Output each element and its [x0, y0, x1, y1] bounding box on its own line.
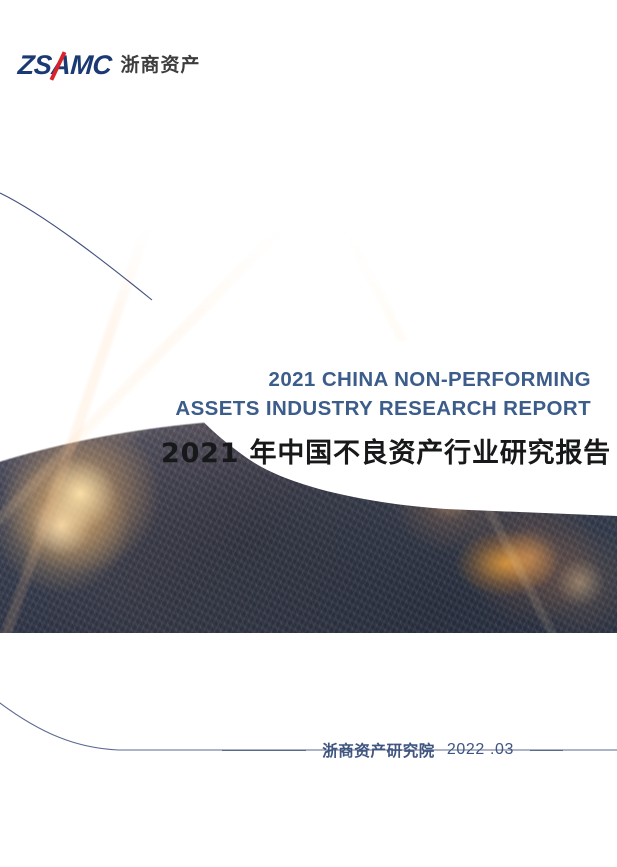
cover-footer: 浙商资产研究院 2022 .03: [0, 736, 617, 764]
logo-wordmark: ZSAMC: [17, 52, 112, 79]
hero-image: [0, 0, 617, 633]
title-chinese: 2021 年中国不良资产行业研究报告: [161, 437, 591, 471]
report-cover-page: ZSAMC 浙商资产 2021 CHINA NON-PERFORMING ASS…: [0, 0, 617, 867]
title-english-line-1: 2021 CHINA NON-PERFORMING: [161, 366, 591, 394]
footer-publisher: 浙商资产研究院: [322, 739, 435, 761]
cover-title-block: 2021 CHINA NON-PERFORMING ASSETS INDUSTR…: [161, 366, 591, 470]
footer-rule-left: [222, 750, 306, 751]
footer-rule-right: [530, 750, 563, 751]
cityscape-photo: [0, 0, 617, 633]
brand-logo: ZSAMC 浙商资产: [18, 52, 201, 79]
title-english-line-2: ASSETS INDUSTRY RESEARCH REPORT: [161, 395, 591, 423]
logo-company-name-cn: 浙商资产: [121, 56, 201, 75]
logo-wordmark-text: ZSAMC: [17, 50, 113, 80]
footer-date: 2022 .03: [447, 741, 514, 759]
